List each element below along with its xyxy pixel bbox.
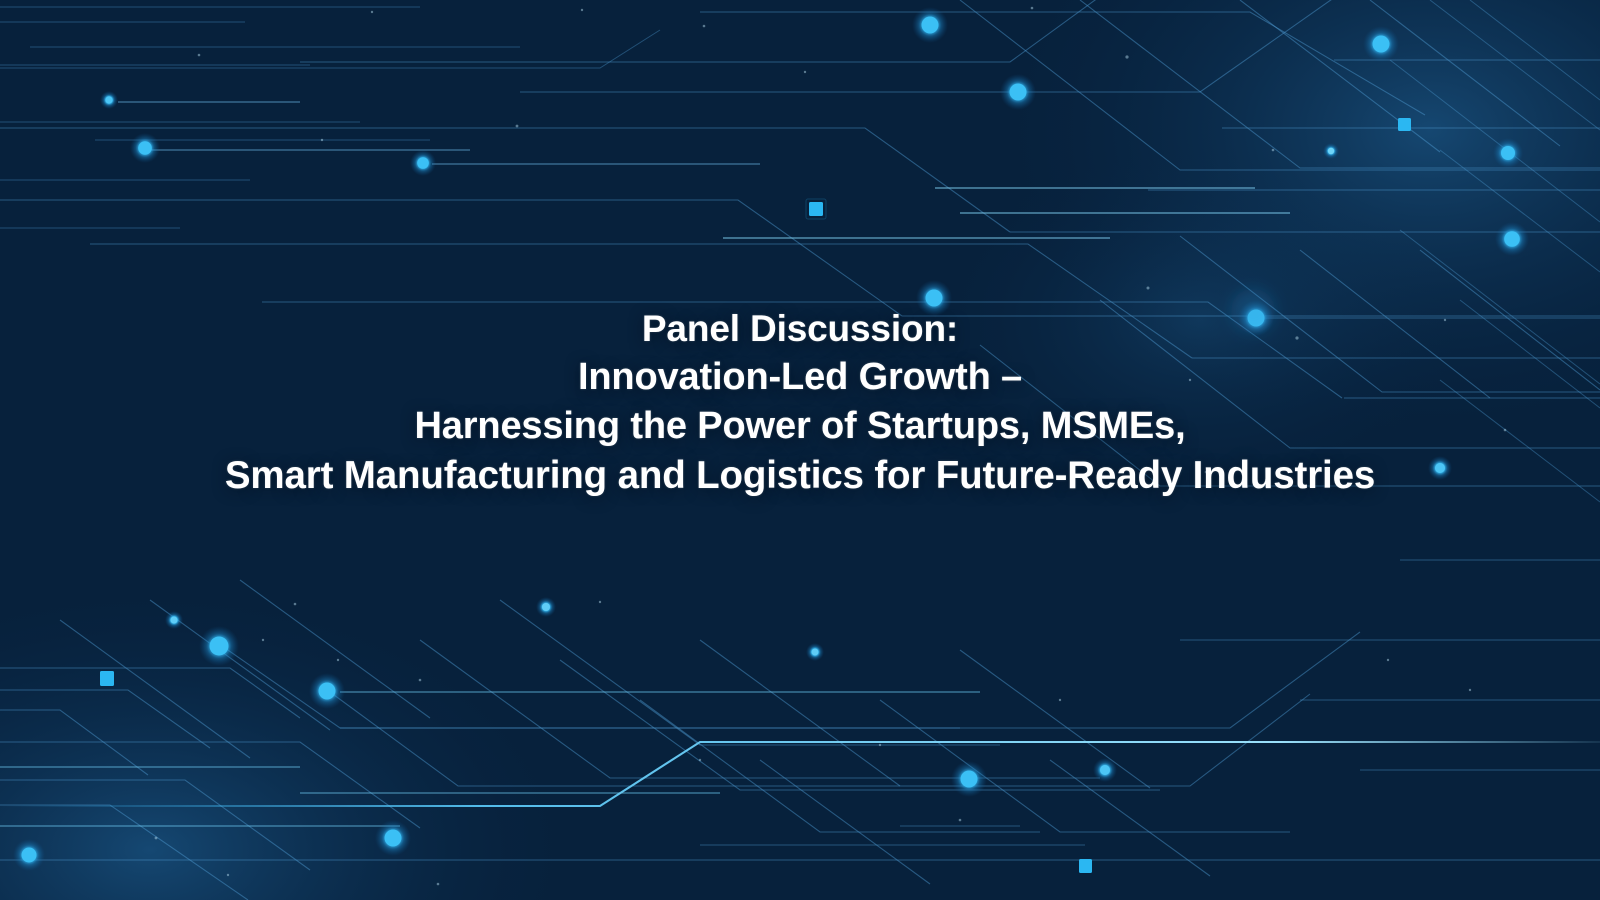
circuit-bright-traces-bottom-left (0, 742, 1600, 870)
circuit-traces-top-left (0, 7, 660, 228)
title-line-2: Innovation-Led Growth – (0, 353, 1600, 402)
circuit-accent-traces-top-right (700, 26, 1600, 225)
circuit-traces-bottom-right (700, 560, 1600, 845)
circuit-highlight-traces (723, 188, 1290, 238)
title-line-4: Smart Manufacturing and Logistics for Fu… (0, 451, 1600, 500)
glow-haze-bottom-left (0, 590, 570, 900)
circuit-accent-traces-top-left (118, 102, 760, 164)
circuit-accent-traces-bottom-left (0, 692, 980, 826)
circuit-traces-bottom-left (0, 580, 1600, 900)
slide-title-block: Panel Discussion: Innovation-Led Growth … (0, 304, 1600, 500)
title-slide: Panel Discussion: Innovation-Led Growth … (0, 0, 1600, 900)
title-line-3: Harnessing the Power of Startups, MSMEs, (0, 402, 1600, 451)
title-line-1: Panel Discussion: (0, 304, 1600, 353)
